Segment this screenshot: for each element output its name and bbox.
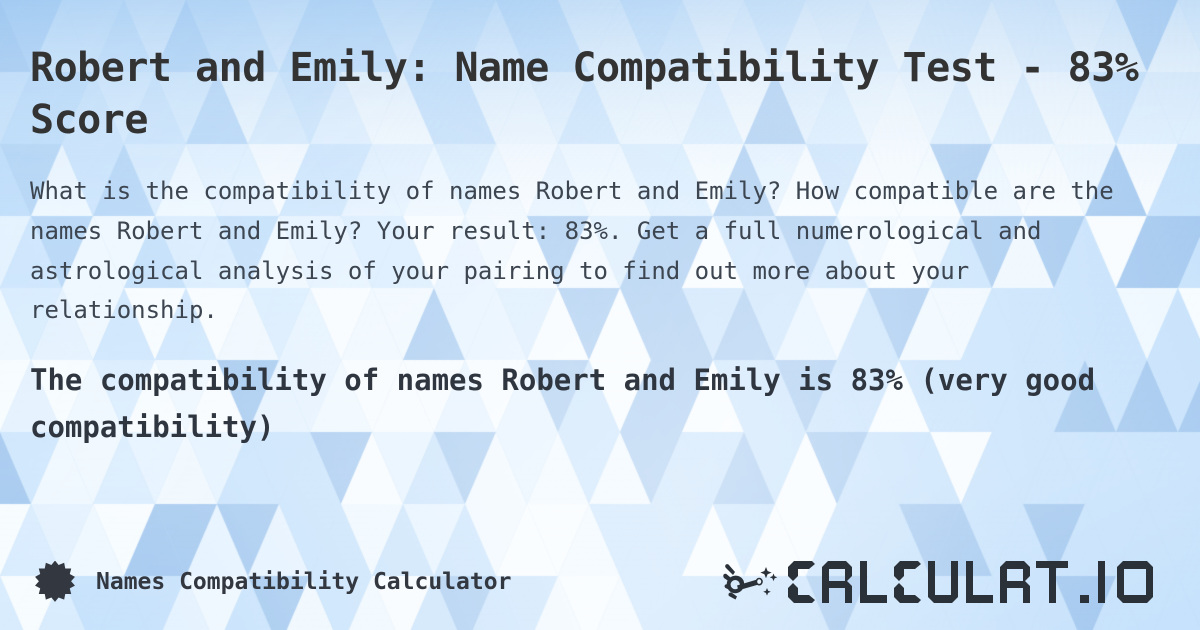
brand-block: Names Compatibility Calculator — [34, 561, 511, 603]
calculatio-logo[interactable]: CALCULAT.IO — [722, 559, 1164, 605]
calculatio-tld — [1078, 559, 1164, 605]
brand-label: Names Compatibility Calculator — [96, 569, 511, 595]
footer-bar: Names Compatibility Calculator — [0, 534, 1200, 630]
calculatio-wordmark: CALCULAT.IO — [784, 559, 1072, 605]
page-title: Robert and Emily: Name Compatibility Tes… — [30, 42, 1140, 146]
hand-magic-wand-icon — [722, 559, 778, 605]
page-description: What is the compatibility of names Rober… — [30, 172, 1140, 331]
starburst-icon — [34, 561, 76, 603]
compatibility-result-text: The compatibility of names Robert and Em… — [30, 357, 1140, 451]
